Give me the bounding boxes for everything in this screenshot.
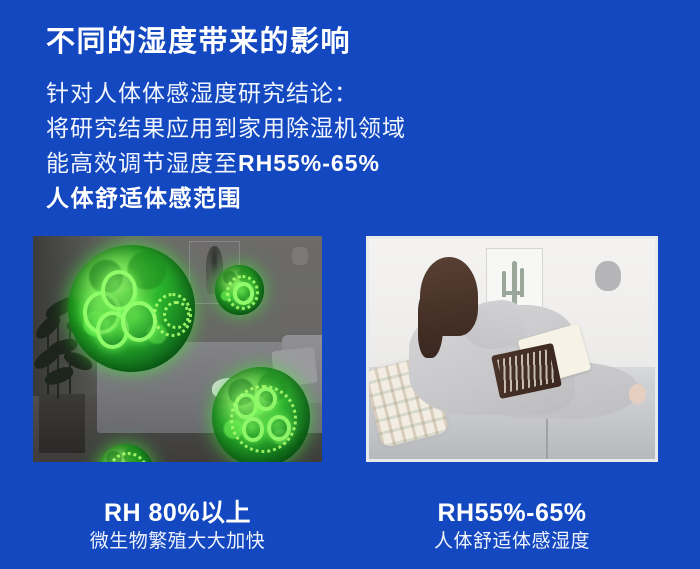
microbe-spike-ring — [230, 385, 297, 453]
caption-title: RH55%-65% — [366, 498, 658, 528]
caption-title: RH 80%以上 — [33, 498, 322, 528]
caption-comfort-humidity: RH55%-65% 人体舒适体感湿度 — [366, 498, 658, 556]
photo-high-humidity — [33, 236, 322, 462]
caption-high-humidity: RH 80%以上 微生物繁殖大大加快 — [33, 498, 322, 556]
body-line-4: 人体舒适体感范围 — [46, 181, 406, 216]
wall-speaker — [595, 261, 621, 291]
scene-bright-living-room — [369, 239, 655, 459]
body-line-3-highlight: RH55%-65% — [238, 150, 380, 176]
microbe-sphere-large — [68, 245, 195, 372]
body-line-3-prefix: 能高效调节湿度至 — [46, 150, 238, 176]
body-line-2: 将研究结果应用到家用除湿机领域 — [46, 111, 406, 146]
cactus-branch — [502, 291, 524, 295]
scene-dim-living-room — [33, 236, 322, 462]
woman-hair — [420, 257, 477, 336]
microbe-sphere-lower — [212, 367, 310, 462]
body-line-3: 能高效调节湿度至RH55%-65% — [46, 146, 406, 181]
microbe-sphere-small — [97, 444, 155, 462]
body-line-1: 针对人体体感湿度研究结论： — [46, 76, 406, 111]
microbe-spike-ring — [108, 452, 148, 462]
page-title: 不同的湿度带来的影响 — [46, 18, 351, 60]
microbe-sphere-medium — [215, 265, 264, 315]
caption-subtitle: 人体舒适体感湿度 — [366, 528, 658, 556]
body-copy: 针对人体体感湿度研究结论： 将研究结果应用到家用除湿机领域 能高效调节湿度至RH… — [46, 76, 406, 216]
microbe-cell — [121, 301, 157, 342]
sofa-seam — [546, 415, 548, 459]
caption-subtitle: 微生物繁殖大大加快 — [33, 528, 322, 556]
photo-comfort-humidity — [366, 236, 658, 462]
wall-knob — [292, 247, 308, 265]
humidity-comparison-poster: 不同的湿度带来的影响 针对人体体感湿度研究结论： 将研究结果应用到家用除湿机领域… — [0, 0, 700, 569]
microbe-spike-ring — [163, 301, 189, 330]
